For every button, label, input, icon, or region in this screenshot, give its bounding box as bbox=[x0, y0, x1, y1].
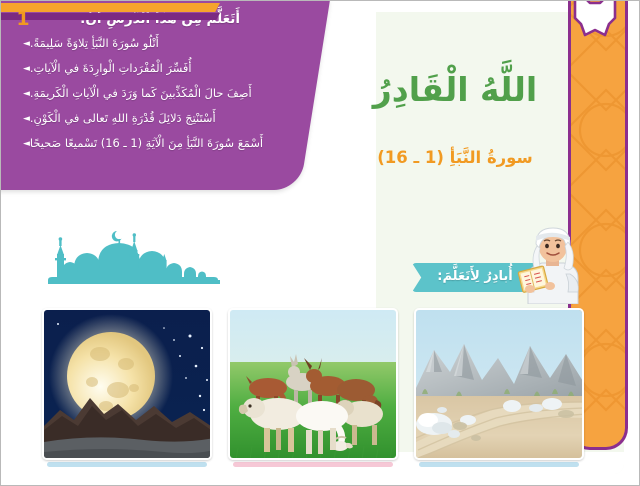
photo-1-shadow bbox=[47, 462, 207, 467]
bullet-icon: ◄ bbox=[23, 136, 30, 152]
photo-sheep-and-goats-grazing[interactable] bbox=[228, 308, 398, 460]
objective-item: ◄ أَتْلُو سُورَةَ النَّبَأِ تِلاوَةً سَل… bbox=[16, 36, 320, 52]
bullet-icon: ◄ bbox=[23, 86, 30, 102]
objective-item: ◄ أُفَسِّرَ الْمُفْرَداتِ الْوارِدَةَ في… bbox=[16, 61, 320, 77]
learning-objectives-content: أَتَعَلَّمُ مِنْ هَذَا الدَّرْسِ أَنْ: ◄… bbox=[6, 0, 336, 190]
photo-full-moon-over-mountains[interactable] bbox=[42, 308, 212, 460]
mosque-silhouette-icon bbox=[38, 228, 228, 288]
lesson-title: اللَّهُ الْقَادِرُ bbox=[330, 70, 580, 109]
page-number-badge bbox=[572, 0, 618, 42]
photo-1-image bbox=[44, 310, 212, 460]
objective-item: ◄ أَسْمَعَ سُورَةَ النَّبَأِ مِنَ الْآيَ… bbox=[16, 136, 320, 152]
lesson-subtitle: سورةُ النَّبَأِ (1 ـ 16) bbox=[330, 148, 580, 167]
boy-with-book-illustration bbox=[506, 226, 592, 304]
bullet-icon: ◄ bbox=[23, 111, 30, 127]
photo-rocky-mountains-desert-road[interactable] bbox=[414, 308, 584, 460]
photo-2-shadow bbox=[233, 462, 393, 467]
objective-text: أَسْمَعَ سُورَةَ النَّبَأِ مِنَ الْآيَةِ… bbox=[30, 136, 263, 151]
objective-item: ◄ أَصِفَ حالَ الْمُكَذِّبينَ كَما وَرَدَ… bbox=[16, 86, 320, 102]
objective-text: أَتْلُو سُورَةَ النَّبَأِ تِلاوَةً سَلِي… bbox=[30, 36, 159, 51]
objective-text: أُفَسِّرَ الْمُفْرَداتِ الْوارِدَةَ في ا… bbox=[30, 61, 192, 76]
page-number: 1 bbox=[0, 0, 46, 42]
objective-text: أَسْتَنْتِجَ دَلائِلَ قُدْرَةِ اللهِ تَع… bbox=[30, 111, 216, 126]
bullet-icon: ◄ bbox=[23, 61, 30, 77]
photo-3-image bbox=[416, 310, 584, 460]
photo-3-shadow bbox=[419, 462, 579, 467]
lesson-page: أَتَعَلَّمُ مِنْ هَذَا الدَّرْسِ أَنْ: ◄… bbox=[0, 0, 640, 486]
photo-2-image bbox=[230, 310, 398, 460]
objective-text: أَصِفَ حالَ الْمُكَذِّبينَ كَما وَرَدَ ف… bbox=[30, 86, 252, 101]
objective-item: ◄ أَسْتَنْتِجَ دَلائِلَ قُدْرَةِ اللهِ ت… bbox=[16, 111, 320, 127]
